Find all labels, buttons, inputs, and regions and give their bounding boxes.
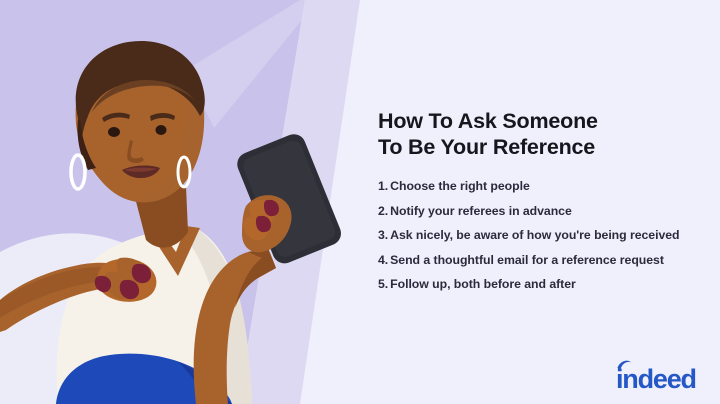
list-item-number: 1. bbox=[378, 179, 388, 193]
list-item: 5.Follow up, both before and after bbox=[378, 272, 714, 297]
page-title-line-1: How To Ask Someone bbox=[378, 108, 714, 134]
list-item: 3.Ask nicely, be aware of how you're bei… bbox=[378, 223, 714, 248]
page-title-line-2: To Be Your Reference bbox=[378, 134, 714, 160]
indeed-wordmark: indeed bbox=[616, 364, 696, 392]
slide-canvas: How To Ask Someone To Be Your Reference … bbox=[0, 0, 720, 404]
indeed-logo: indeed bbox=[616, 358, 710, 392]
list-item: 1.Choose the right people bbox=[378, 174, 714, 199]
list-item: 4.Send a thoughtful email for a referenc… bbox=[378, 248, 714, 273]
woman-holding-phone-illustration bbox=[0, 0, 400, 404]
text-column: How To Ask Someone To Be Your Reference … bbox=[378, 108, 714, 297]
eye-left bbox=[108, 127, 120, 137]
list-item-number: 3. bbox=[378, 228, 388, 242]
list-item-text: Ask nicely, be aware of how you're being… bbox=[390, 228, 679, 242]
list-item-text: Choose the right people bbox=[390, 179, 530, 193]
list-item-text: Follow up, both before and after bbox=[390, 277, 576, 291]
list-item-number: 4. bbox=[378, 253, 388, 267]
list-item-number: 5. bbox=[378, 277, 388, 291]
list-item-number: 2. bbox=[378, 204, 388, 218]
eye-right bbox=[156, 125, 167, 135]
earring-left bbox=[71, 155, 85, 189]
list-item-text: Send a thoughtful email for a reference … bbox=[390, 253, 664, 267]
list-item: 2.Notify your referees in advance bbox=[378, 199, 714, 224]
page-title: How To Ask Someone To Be Your Reference bbox=[378, 108, 714, 160]
steps-list: 1.Choose the right people 2.Notify your … bbox=[378, 174, 714, 297]
list-item-text: Notify your referees in advance bbox=[390, 204, 572, 218]
